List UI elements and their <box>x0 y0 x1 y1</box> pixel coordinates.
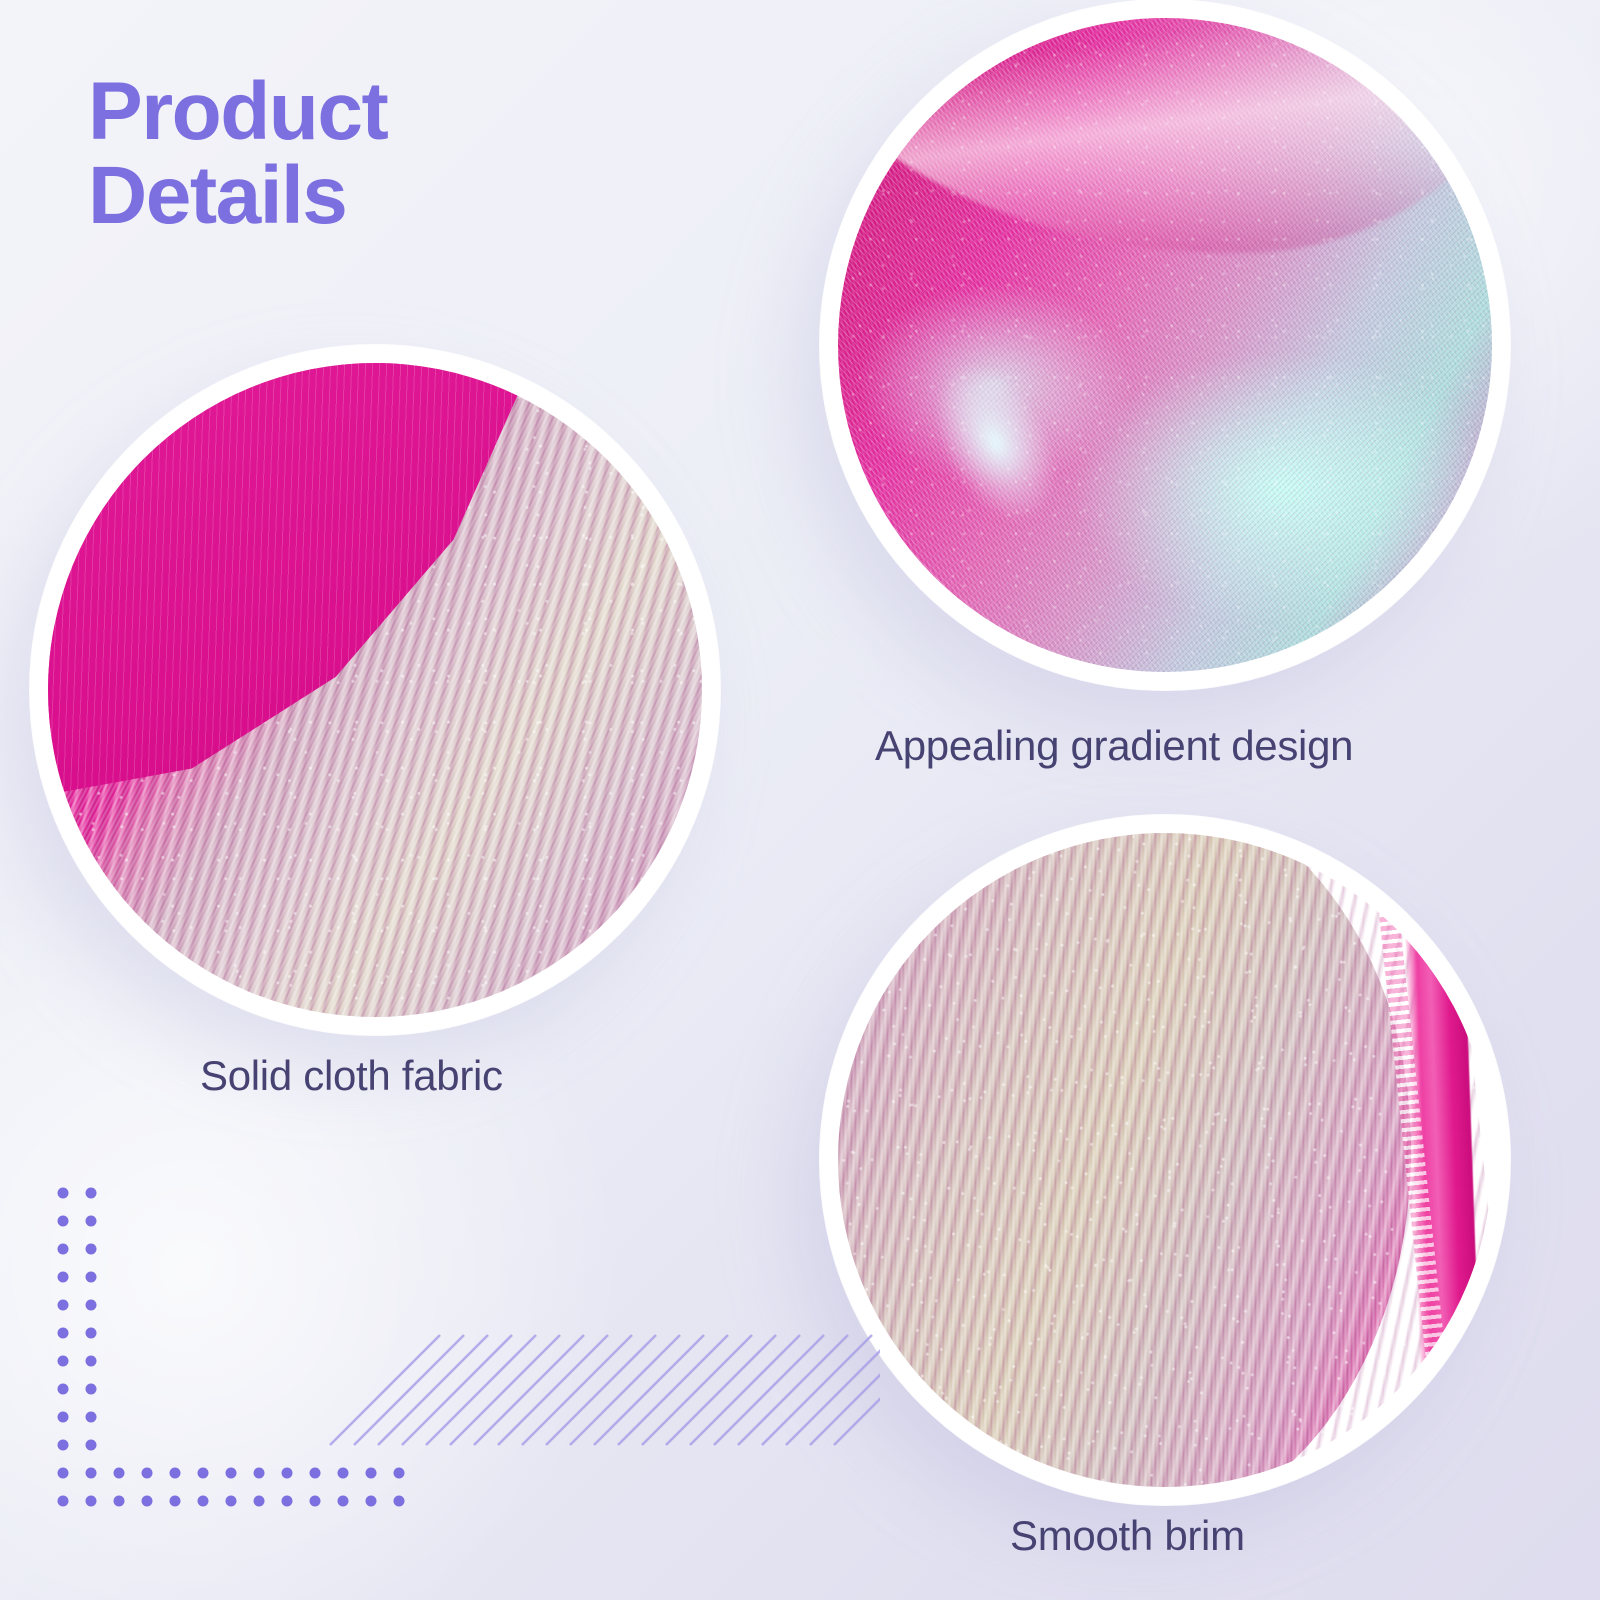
feature-caption-solid-cloth-fabric: Solid cloth fabric <box>200 1052 503 1100</box>
feature-image-appealing-gradient-design[interactable] <box>820 0 1510 690</box>
gradient-sparkle-texture <box>838 18 1492 672</box>
brim-surface <box>838 833 1451 1487</box>
feature-caption-appealing-gradient-design: Appealing gradient design <box>875 722 1353 770</box>
photo-clip <box>838 833 1492 1487</box>
feature-card-solid-cloth-fabric <box>30 345 720 1035</box>
product-details-infographic: Product Details Solid cloth fabric <box>0 0 1600 1600</box>
photo-clip <box>48 363 702 1017</box>
feature-image-solid-cloth-fabric[interactable] <box>30 345 720 1035</box>
feature-card-appealing-gradient-design <box>820 0 1510 690</box>
feature-caption-smooth-brim: Smooth brim <box>1010 1512 1245 1560</box>
feature-image-smooth-brim[interactable] <box>820 815 1510 1505</box>
feature-card-smooth-brim <box>820 815 1510 1505</box>
photo-clip <box>838 18 1492 672</box>
page-title: Product Details <box>88 70 608 237</box>
diagonal-stripe-icon <box>320 1295 880 1495</box>
